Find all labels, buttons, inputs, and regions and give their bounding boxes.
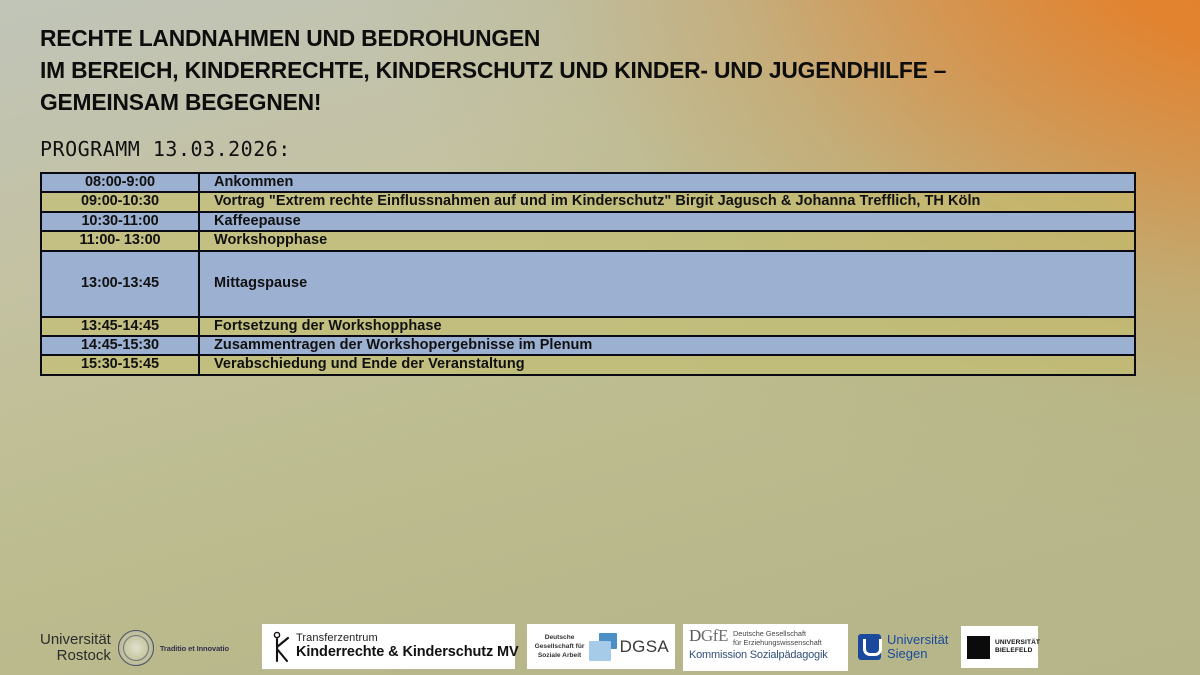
rostock-line-1: Universität [40,632,111,648]
row-time: 13:45-14:45 [41,317,199,336]
dgsa-squares-icon [589,633,616,661]
schedule-body: 08:00-9:00 Ankommen 09:00-10:30 Vortrag … [41,173,1135,375]
dgsa-full-name: Deutsche Gesellschaft für Soziale Arbeit [533,633,586,660]
rostock-line-2: Rostock [40,648,111,664]
bielefeld-line-1: UNIVERSITÄT [995,639,1040,647]
child-figure-icon [270,631,292,663]
bielefeld-wordmark: UNIVERSITÄT BIELEFELD [995,639,1040,655]
title-line-1: RECHTE LANDNAHMEN UND BEDROHUNGEN [40,22,1088,54]
dgfe-long-line-2: für Erziehungswissenschaft [733,638,822,647]
dgfe-abbreviation: DGfE [689,627,728,645]
row-task: Kaffeepause [199,212,1135,231]
schedule-table: 08:00-9:00 Ankommen 09:00-10:30 Vortrag … [40,172,1136,376]
dgfe-kommission: Kommission Sozialpädagogik [689,649,842,661]
table-row: 11:00- 13:00 Workshopphase [41,231,1135,250]
logo-universitaet-rostock: Universität Rostock Traditio et Innovati… [40,628,229,668]
logo-transferzentrum: Transferzentrum Kinderrechte & Kindersch… [262,624,515,669]
row-task: Workshopphase [199,231,1135,250]
logo-dgfe: DGfE Deutsche Gesellschaft für Erziehung… [683,624,848,671]
title-line-2: IM BEREICH, KINDERRECHTE, KINDERSCHUTZ U… [40,54,1088,86]
row-task: Vortrag "Extrem rechte Einflussnahmen au… [199,192,1135,211]
row-task: Zusammentragen der Workshopergebnisse im… [199,336,1135,355]
bielefeld-square-icon [967,636,990,659]
transferzentrum-line-1: Transferzentrum [296,633,519,645]
table-row: 13:45-14:45 Fortsetzung der Workshopphas… [41,317,1135,336]
rostock-motto: Traditio et Innovatio [160,644,229,653]
siegen-u-icon [858,634,881,660]
dgfe-long-line-1: Deutsche Gesellschaft [733,629,822,638]
table-row: 15:30-15:45 Verabschiedung und Ende der … [41,355,1135,374]
siegen-line-2: Siegen [887,647,948,661]
dgfe-top-row: DGfE Deutsche Gesellschaft für Erziehung… [689,627,842,647]
table-row: 09:00-10:30 Vortrag "Extrem rechte Einfl… [41,192,1135,211]
siegen-wordmark: Universität Siegen [887,633,948,661]
slide-title: RECHTE LANDNAHMEN UND BEDROHUNGEN IM BER… [40,22,1120,118]
transferzentrum-line-2: Kinderrechte & Kinderschutz MV [296,645,519,660]
row-task: Verabschiedung und Ende der Veranstaltun… [199,355,1135,374]
dgfe-abbr-gfe: GfE [701,626,728,645]
row-time: 10:30-11:00 [41,212,199,231]
logo-strip: Universität Rostock Traditio et Innovati… [0,624,1200,675]
logo-dgsa: Deutsche Gesellschaft für Soziale Arbeit… [527,624,675,669]
rostock-wordmark: Universität Rostock [40,632,111,664]
row-time: 13:00-13:45 [41,251,199,317]
transferzentrum-wordmark: Transferzentrum Kinderrechte & Kindersch… [296,633,519,660]
row-time: 11:00- 13:00 [41,231,199,250]
row-time: 15:30-15:45 [41,355,199,374]
bielefeld-line-2: BIELEFELD [995,647,1040,655]
dgsa-square-front [589,641,611,661]
siegen-line-1: Universität [887,633,948,647]
row-task: Fortsetzung der Workshopphase [199,317,1135,336]
row-time: 09:00-10:30 [41,192,199,211]
programm-heading: PROGRAMM 13.03.2026: [40,137,291,161]
row-time: 08:00-9:00 [41,173,199,192]
dgsa-abbreviation: DGSA [620,637,669,657]
table-row: 10:30-11:00 Kaffeepause [41,212,1135,231]
dgfe-abbr-d: D [689,626,701,645]
title-line-3: GEMEINSAM BEGEGNEN! [40,86,1088,118]
table-row: 08:00-9:00 Ankommen [41,173,1135,192]
row-task: Ankommen [199,173,1135,192]
row-time: 14:45-15:30 [41,336,199,355]
logo-universitaet-siegen: Universität Siegen [858,629,948,665]
table-row: 14:45-15:30 Zusammentragen der Workshope… [41,336,1135,355]
dgfe-full-name: Deutsche Gesellschaft für Erziehungswiss… [733,629,822,647]
presentation-slide: RECHTE LANDNAHMEN UND BEDROHUNGEN IM BER… [0,0,1200,675]
logo-universitaet-bielefeld: UNIVERSITÄT BIELEFELD [961,626,1038,668]
rostock-seal-icon [118,630,154,666]
row-task: Mittagspause [199,251,1135,317]
table-row: 13:00-13:45 Mittagspause [41,251,1135,317]
